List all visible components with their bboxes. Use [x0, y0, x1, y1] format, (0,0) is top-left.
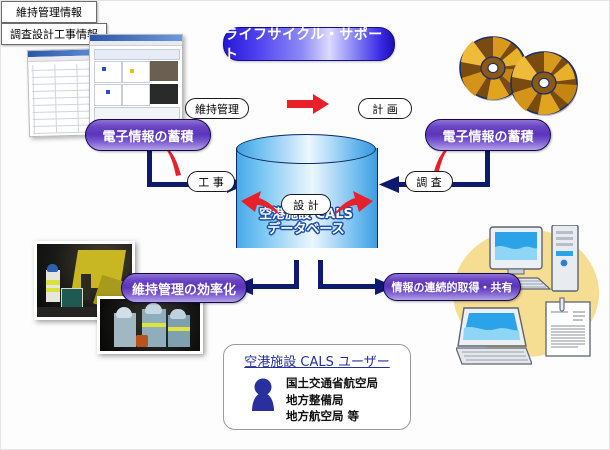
list-item: 地方整備局 — [286, 392, 378, 409]
navy-arrow-icon — [379, 175, 399, 194]
caption-maintenance-info: 維持管理情報 — [1, 1, 97, 23]
photo-night-workers — [97, 296, 203, 354]
users-list: 国土交通省航空局 地方整備局 地方航空局 等 — [286, 375, 378, 425]
navy-arrow-icon — [251, 284, 299, 289]
screenshot-menubar — [90, 41, 182, 46]
red-arrow-icon — [287, 93, 329, 115]
laptop-icon — [456, 306, 532, 370]
navy-arrow-icon — [318, 284, 380, 289]
phase-tag-survey: 調 査 — [405, 171, 453, 192]
document-icon — [542, 296, 598, 358]
cylinder-top-ellipse — [236, 134, 376, 164]
phase-tag-construction: 工 事 — [187, 171, 235, 192]
users-panel: 空港施設 CALS ユーザー 国土交通省航空局 地方整備局 地方航空局 等 — [223, 344, 411, 430]
cd-disc-icon — [510, 49, 580, 119]
pill-accumulate-right: 電子情報の蓄積 — [425, 119, 551, 151]
person-icon — [250, 377, 276, 417]
list-item: 地方航空局 等 — [286, 408, 378, 425]
pill-maintenance-efficiency: 維持管理の効率化 — [121, 273, 247, 303]
pill-accumulate-left: 電子情報の蓄積 — [85, 119, 211, 151]
list-item: 国土交通省航空局 — [286, 375, 378, 392]
users-panel-title: 空港施設 CALS ユーザー — [224, 351, 410, 370]
database-label-line2: データベース — [236, 223, 376, 238]
phase-tag-maintenance: 維持管理 — [185, 98, 249, 119]
red-arrow-icon — [241, 191, 281, 217]
red-arrow-icon — [333, 191, 373, 217]
page-title: ライフサイクル・サポート — [223, 27, 395, 61]
screenshot-report-front — [89, 34, 183, 132]
phase-tag-design: 設 計 — [281, 194, 331, 215]
phase-tag-plan: 計 画 — [358, 98, 412, 119]
diagram-canvas: 維持管理情報 調査設計工事情報 ライフサイクル・サポート — [0, 0, 610, 450]
pill-continuous-share: 情報の連続的取得・共有 — [383, 273, 521, 301]
